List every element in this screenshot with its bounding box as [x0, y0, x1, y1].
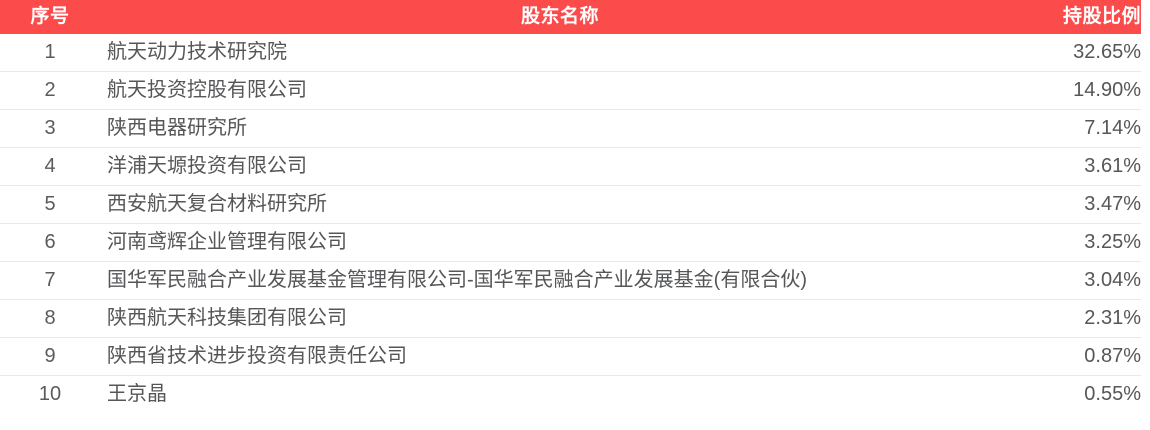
table-row: 3 陕西电器研究所 7.14% [0, 110, 1141, 148]
column-header-name: 股东名称 [100, 0, 1020, 34]
cell-holding-ratio: 3.25% [1020, 224, 1141, 262]
table-row: 2 航天投资控股有限公司 14.90% [0, 72, 1141, 110]
cell-shareholder-name: 陕西电器研究所 [100, 110, 1020, 148]
column-header-ratio: 持股比例 [1020, 0, 1141, 34]
cell-holding-ratio: 3.47% [1020, 186, 1141, 224]
cell-index: 6 [0, 224, 100, 262]
table-header-row: 序号 股东名称 持股比例 [0, 0, 1141, 34]
column-header-index: 序号 [0, 0, 100, 34]
table-row: 4 洋浦天塬投资有限公司 3.61% [0, 148, 1141, 186]
table-body: 1 航天动力技术研究院 32.65% 2 航天投资控股有限公司 14.90% 3… [0, 34, 1141, 413]
cell-holding-ratio: 0.55% [1020, 376, 1141, 414]
table-row: 7 国华军民融合产业发展基金管理有限公司-国华军民融合产业发展基金(有限合伙) … [0, 262, 1141, 300]
cell-shareholder-name: 王京晶 [100, 376, 1020, 414]
table-row: 9 陕西省技术进步投资有限责任公司 0.87% [0, 338, 1141, 376]
table-row: 1 航天动力技术研究院 32.65% [0, 34, 1141, 72]
cell-holding-ratio: 3.04% [1020, 262, 1141, 300]
cell-index: 3 [0, 110, 100, 148]
cell-holding-ratio: 7.14% [1020, 110, 1141, 148]
cell-index: 8 [0, 300, 100, 338]
cell-shareholder-name: 陕西省技术进步投资有限责任公司 [100, 338, 1020, 376]
cell-index: 5 [0, 186, 100, 224]
cell-holding-ratio: 3.61% [1020, 148, 1141, 186]
cell-holding-ratio: 0.87% [1020, 338, 1141, 376]
cell-shareholder-name: 西安航天复合材料研究所 [100, 186, 1020, 224]
cell-index: 2 [0, 72, 100, 110]
cell-index: 1 [0, 34, 100, 72]
cell-shareholder-name: 国华军民融合产业发展基金管理有限公司-国华军民融合产业发展基金(有限合伙) [100, 262, 1020, 300]
cell-holding-ratio: 32.65% [1020, 34, 1141, 72]
cell-index: 9 [0, 338, 100, 376]
cell-index: 4 [0, 148, 100, 186]
cell-holding-ratio: 2.31% [1020, 300, 1141, 338]
cell-shareholder-name: 河南鸢辉企业管理有限公司 [100, 224, 1020, 262]
cell-index: 7 [0, 262, 100, 300]
table-row: 8 陕西航天科技集团有限公司 2.31% [0, 300, 1141, 338]
table-row: 10 王京晶 0.55% [0, 376, 1141, 414]
table-row: 6 河南鸢辉企业管理有限公司 3.25% [0, 224, 1141, 262]
table-row: 5 西安航天复合材料研究所 3.47% [0, 186, 1141, 224]
shareholder-table: 序号 股东名称 持股比例 1 航天动力技术研究院 32.65% 2 航天投资控股… [0, 0, 1141, 413]
cell-index: 10 [0, 376, 100, 414]
cell-holding-ratio: 14.90% [1020, 72, 1141, 110]
cell-shareholder-name: 航天投资控股有限公司 [100, 72, 1020, 110]
table-header: 序号 股东名称 持股比例 [0, 0, 1141, 34]
cell-shareholder-name: 洋浦天塬投资有限公司 [100, 148, 1020, 186]
cell-shareholder-name: 航天动力技术研究院 [100, 34, 1020, 72]
cell-shareholder-name: 陕西航天科技集团有限公司 [100, 300, 1020, 338]
